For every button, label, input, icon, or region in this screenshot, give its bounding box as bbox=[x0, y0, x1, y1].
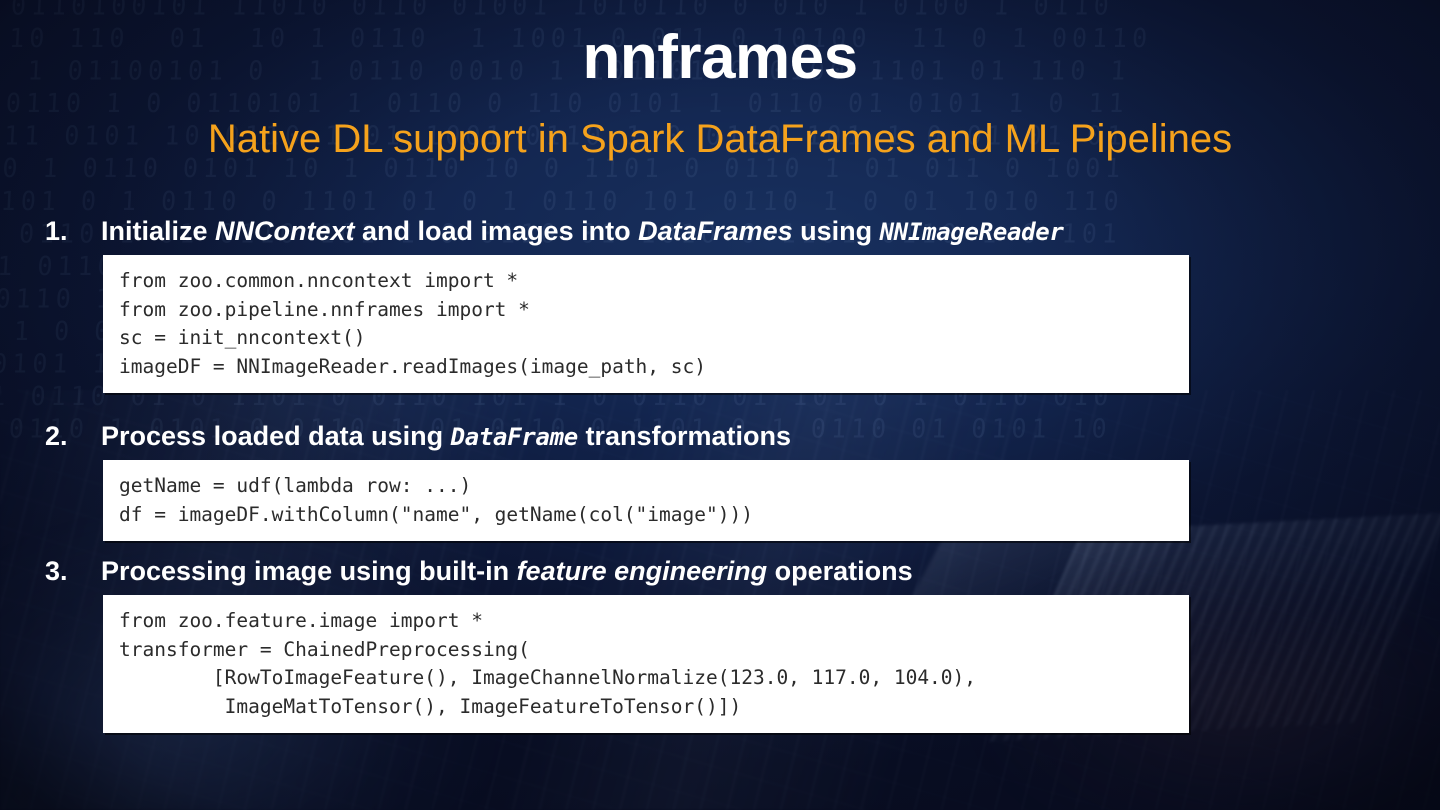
heading-plain: using bbox=[793, 216, 880, 246]
slide-subtitle: Native DL support in Spark DataFrames an… bbox=[0, 117, 1440, 162]
heading-plain: operations bbox=[767, 556, 913, 586]
heading-plain: Process loaded data using bbox=[101, 421, 451, 451]
code-block-3: from zoo.feature.image import * transfor… bbox=[103, 595, 1189, 733]
step-heading-1: 1. Initialize NNContext and load images … bbox=[45, 216, 1395, 247]
heading-plain: Initialize bbox=[101, 216, 215, 246]
step-item-1: 1. Initialize NNContext and load images … bbox=[45, 216, 1395, 393]
slide-root: 0110100101 11010 0110 01001 1010110 0 01… bbox=[0, 0, 1440, 810]
slide-title: nnframes bbox=[0, 22, 1440, 93]
heading-emphasis: DataFrames bbox=[638, 216, 793, 246]
heading-code-term: DataFrame bbox=[451, 423, 578, 451]
step-item-2: 2. Process loaded data using DataFrame t… bbox=[45, 421, 1395, 541]
step-heading-3: 3. Processing image using built-in featu… bbox=[45, 556, 1395, 587]
code-text-1: from zoo.common.nncontext import * from … bbox=[119, 267, 1189, 381]
code-block-2: getName = udf(lambda row: ...) df = imag… bbox=[103, 460, 1189, 541]
heading-plain: and load images into bbox=[355, 216, 639, 246]
heading-plain: Processing image using built-in bbox=[101, 556, 517, 586]
step-heading-text-2: Process loaded data using DataFrame tran… bbox=[101, 421, 791, 452]
step-heading-text-1: Initialize NNContext and load images int… bbox=[101, 216, 1064, 247]
step-number-2: 2. bbox=[45, 421, 101, 452]
code-block-1: from zoo.common.nncontext import * from … bbox=[103, 255, 1189, 393]
code-text-3: from zoo.feature.image import * transfor… bbox=[119, 607, 1189, 721]
step-number-3: 3. bbox=[45, 556, 101, 587]
step-heading-2: 2. Process loaded data using DataFrame t… bbox=[45, 421, 1395, 452]
step-item-3: 3. Processing image using built-in featu… bbox=[45, 556, 1395, 733]
heading-code-term: NNImageReader bbox=[880, 218, 1064, 246]
heading-emphasis: NNContext bbox=[215, 216, 355, 246]
heading-emphasis: feature engineering bbox=[517, 556, 768, 586]
step-heading-text-3: Processing image using built-in feature … bbox=[101, 556, 913, 587]
code-text-2: getName = udf(lambda row: ...) df = imag… bbox=[119, 472, 1189, 529]
heading-plain: transformations bbox=[578, 421, 791, 451]
slide-content: nnframes Native DL support in Spark Data… bbox=[0, 0, 1440, 810]
step-number-1: 1. bbox=[45, 216, 101, 247]
